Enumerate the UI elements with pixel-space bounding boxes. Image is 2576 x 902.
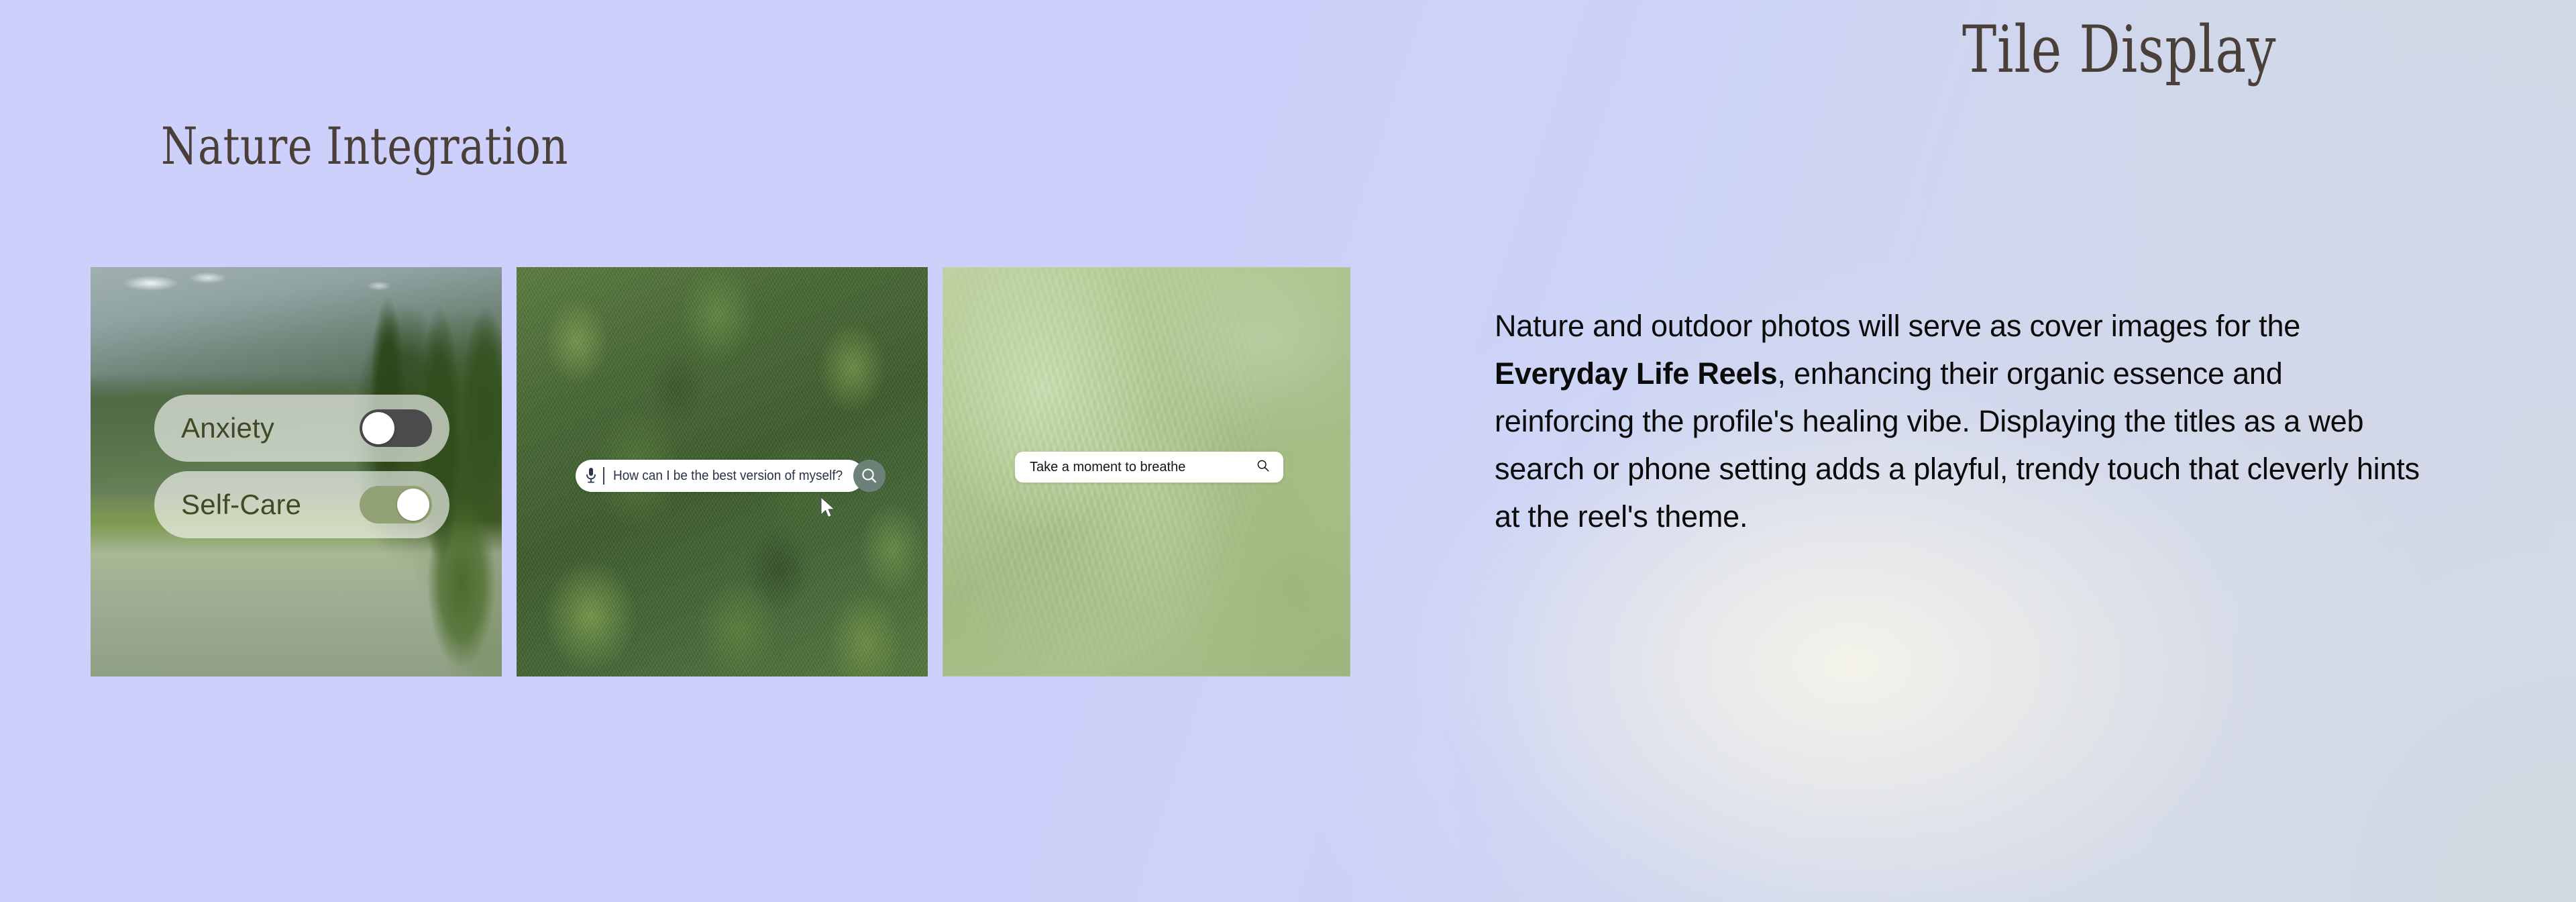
search-query-canopy: How can I be the best version of myself?	[613, 468, 843, 484]
page-title: Tile Display	[1962, 12, 2276, 88]
description-emphasis: Everyday Life Reels	[1495, 356, 1777, 391]
toggle-stack: Anxiety Self-Care	[154, 395, 449, 538]
search-icon[interactable]	[1256, 459, 1270, 476]
mountain-lake-tile[interactable]: Anxiety Self-Care	[91, 267, 502, 676]
cedar-fronds-tile[interactable]: Take a moment to breathe	[943, 267, 1350, 676]
search-query-fronds: Take a moment to breathe	[1030, 460, 1185, 475]
search-bar-canopy[interactable]: How can I be the best version of myself?	[576, 460, 864, 492]
microphone-icon[interactable]	[585, 467, 597, 485]
search-bar-fronds[interactable]: Take a moment to breathe	[1015, 452, 1283, 483]
toggle-label-anxiety: Anxiety	[181, 412, 274, 444]
toggle-row-self-care[interactable]: Self-Care	[154, 471, 449, 538]
toggle-knob	[362, 412, 394, 444]
toggle-switch-anxiety[interactable]	[360, 409, 432, 447]
mouse-pointer-icon	[820, 497, 837, 519]
description-paragraph: Nature and outdoor photos will serve as …	[1495, 302, 2427, 540]
toggle-switch-self-care[interactable]	[360, 486, 432, 523]
search-divider	[603, 467, 604, 485]
forest-canopy-tile[interactable]: How can I be the best version of myself?	[517, 267, 928, 676]
section-title: Nature Integration	[161, 115, 568, 177]
description-part-1: Nature and outdoor photos will serve as …	[1495, 309, 2300, 343]
tile-gallery: Anxiety Self-Care	[91, 267, 1350, 676]
toggle-knob	[397, 489, 429, 521]
search-submit-button[interactable]	[853, 460, 885, 492]
toggle-row-anxiety[interactable]: Anxiety	[154, 395, 449, 462]
toggle-label-self-care: Self-Care	[181, 489, 301, 521]
tile-display-slide: { "header": { "display_title": "Tile Dis…	[0, 0, 2576, 902]
